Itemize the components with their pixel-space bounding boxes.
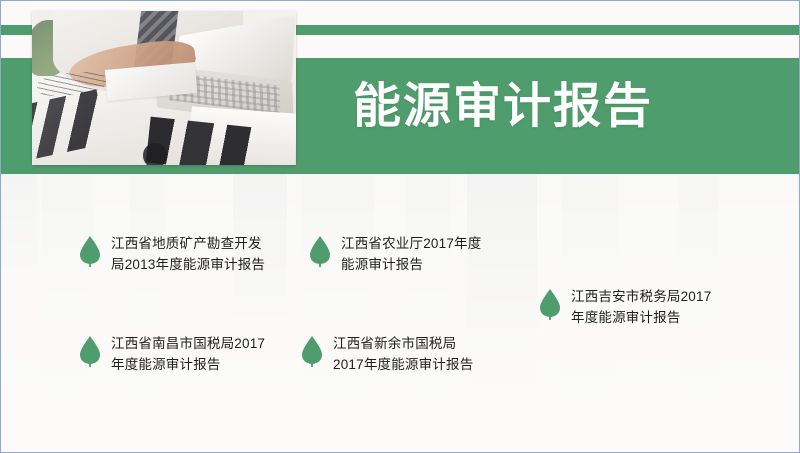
leaf-icon <box>79 335 101 367</box>
list-item-label: 江西省农业厅2017年度能源审计报告 <box>341 233 491 275</box>
leaf-icon <box>539 288 561 320</box>
leaf-icon <box>79 235 101 267</box>
list-item[interactable]: 江西省新余市国税局2017年度能源审计报告 <box>301 333 483 375</box>
list-item-label: 江西省新余市国税局2017年度能源审计报告 <box>333 333 483 375</box>
list-item-label: 江西省南昌市国税局2017年度能源审计报告 <box>111 333 274 375</box>
leaf-icon <box>309 235 331 267</box>
list-item-label: 江西省地质矿产勘查开发局2013年度能源审计报告 <box>111 233 274 275</box>
list-item-label: 江西吉安市税务局2017年度能源审计报告 <box>571 286 721 328</box>
list-item[interactable]: 江西省地质矿产勘查开发局2013年度能源审计报告 <box>79 233 274 275</box>
list-item[interactable]: 江西省南昌市国税局2017年度能源审计报告 <box>79 333 274 375</box>
leaf-icon <box>301 335 323 367</box>
list-item[interactable]: 江西省农业厅2017年度能源审计报告 <box>309 233 491 275</box>
hero-photo <box>32 11 296 165</box>
slide-root: 能源审计报告 江西省地质矿产勘查开发局2013年度能源审计报告 江西省农业厅20… <box>0 0 800 453</box>
page-title: 能源审计报告 <box>353 77 653 137</box>
list-item[interactable]: 江西吉安市税务局2017年度能源审计报告 <box>539 286 721 328</box>
